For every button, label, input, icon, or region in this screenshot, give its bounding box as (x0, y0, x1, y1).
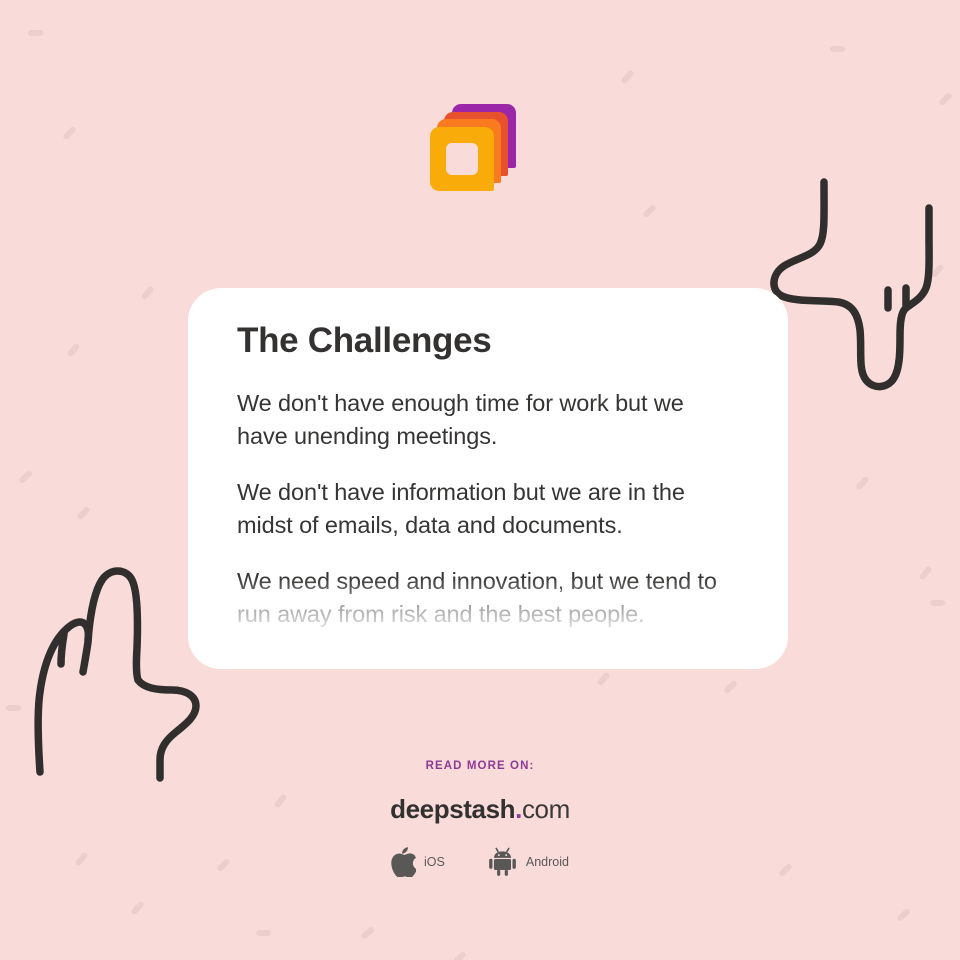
brand-wordmark[interactable]: deepstash.com (0, 794, 960, 825)
confetti-dash (452, 951, 467, 960)
read-more-label: READ MORE ON: (0, 760, 960, 772)
confetti-dash (256, 930, 271, 936)
content-card: The Challenges We don't have enough time… (188, 288, 788, 669)
confetti-dash (918, 565, 932, 580)
deepstash-logo (430, 104, 516, 196)
confetti-dash (938, 92, 953, 107)
confetti-dash (830, 46, 845, 52)
brand-name: deepstash (390, 794, 515, 824)
store-badges: iOS Android (0, 846, 960, 877)
card-paragraph-3: We need speed and innovation, but we ten… (237, 565, 739, 631)
pointing-down-hand-icon (762, 178, 937, 393)
footer: READ MORE ON: deepstash.com iOS (0, 760, 960, 877)
confetti-dash (6, 705, 21, 711)
apple-icon (391, 847, 416, 877)
confetti-dash (723, 680, 738, 695)
android-store-badge[interactable]: Android (487, 846, 569, 877)
pointing-up-hand-icon (28, 562, 208, 782)
confetti-dash (930, 600, 945, 606)
confetti-dash (62, 126, 77, 141)
card-content: The Challenges We don't have enough time… (188, 288, 788, 631)
confetti-dash (76, 506, 91, 521)
android-label: Android (526, 855, 569, 869)
confetti-dash (596, 671, 610, 686)
brand-tld: com (522, 794, 570, 824)
logo-amber-layer (430, 127, 494, 191)
card-paragraph-1: We don't have enough time for work but w… (237, 387, 739, 453)
android-icon (487, 846, 518, 877)
brand-dot: . (515, 794, 522, 824)
confetti-dash (855, 476, 870, 491)
card-paragraph-2: We don't have information but we are in … (237, 476, 739, 542)
confetti-dash (18, 470, 33, 484)
confetti-dash (360, 926, 375, 940)
confetti-dash (620, 69, 634, 84)
confetti-dash (896, 908, 911, 922)
confetti-dash (140, 285, 154, 300)
confetti-dash (130, 900, 145, 915)
card-title: The Challenges (237, 321, 739, 361)
ios-label: iOS (424, 855, 445, 869)
ios-store-badge[interactable]: iOS (391, 847, 445, 877)
poster-canvas: The Challenges We don't have enough time… (0, 0, 960, 960)
confetti-dash (66, 342, 80, 357)
confetti-dash (642, 204, 657, 219)
confetti-dash (28, 30, 43, 36)
